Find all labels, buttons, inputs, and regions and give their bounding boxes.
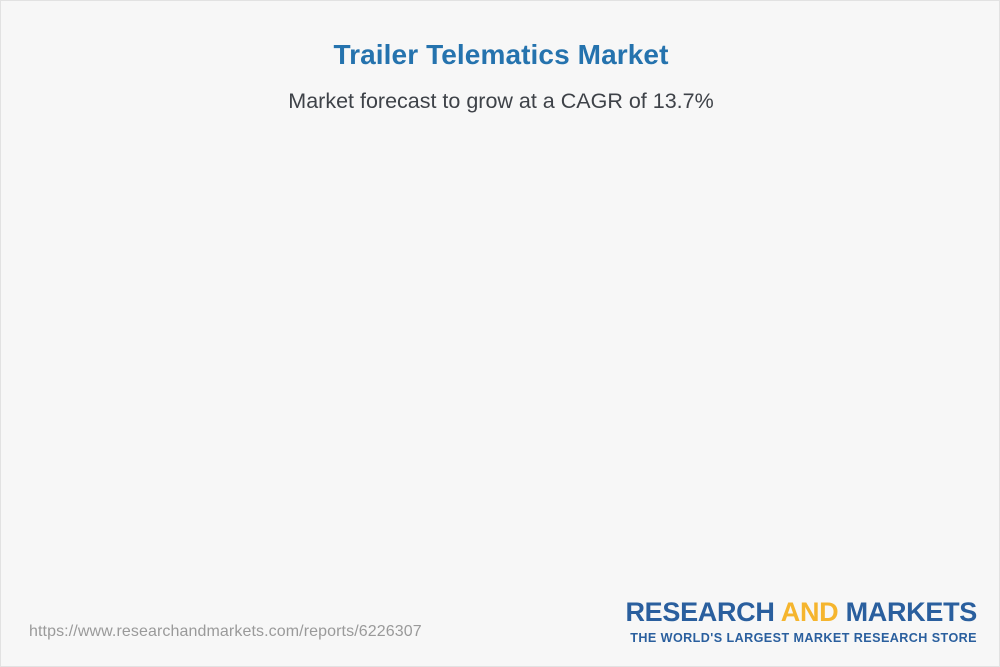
logo-word-research: RESEARCH <box>625 597 780 627</box>
brand-logo[interactable]: RESEARCH AND MARKETS THE WORLD'S LARGEST… <box>625 599 977 645</box>
logo-wordmark: RESEARCH AND MARKETS <box>625 599 977 626</box>
logo-word-and: AND <box>781 597 839 627</box>
logo-word-markets: MARKETS <box>838 597 977 627</box>
logo-tagline: THE WORLD'S LARGEST MARKET RESEARCH STOR… <box>625 632 977 645</box>
infographic-canvas: Trailer Telematics Market Market forecas… <box>0 0 1000 667</box>
chart-plot-area: USD 3.85 Billion <box>1 1 1000 601</box>
source-url[interactable]: https://www.researchandmarkets.com/repor… <box>29 623 422 641</box>
